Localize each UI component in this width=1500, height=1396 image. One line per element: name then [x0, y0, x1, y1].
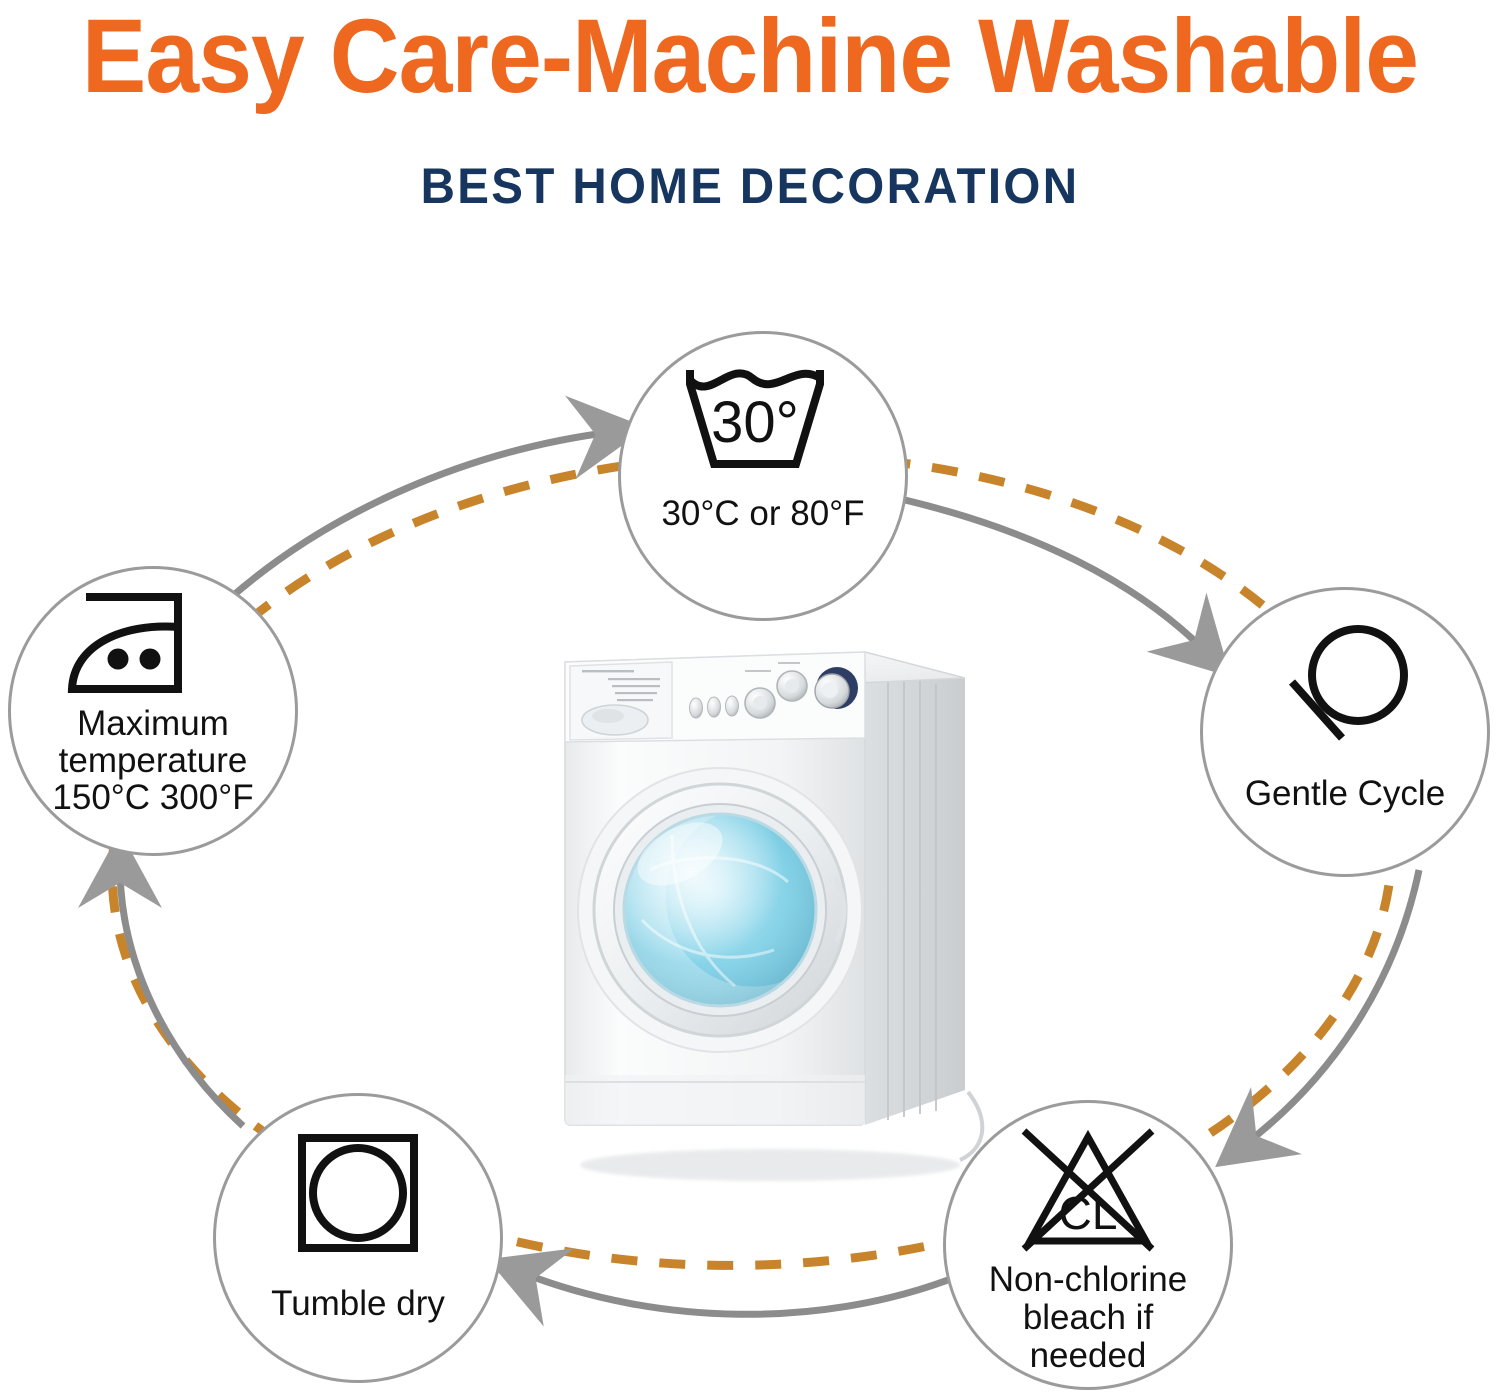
iron-caption-line-2: temperature [52, 742, 253, 779]
bleach-caption-line-3: needed [989, 1337, 1187, 1375]
iron-two-dots-icon [56, 589, 250, 699]
bleach-caption-line-1: Non-chlorine [989, 1261, 1187, 1299]
care-symbol-bleach[interactable]: CL Non-chlorine bleach if needed [943, 1100, 1233, 1390]
arrow-gentle-to-bleach [1243, 870, 1419, 1146]
iron-caption-line-3: 150°C 300°F [52, 779, 253, 816]
wash-tub-30-icon: 30° [668, 358, 858, 478]
care-symbol-gentle-cycle-caption: Gentle Cycle [1245, 774, 1445, 814]
bleach-caption-line-2: bleach if [989, 1299, 1187, 1337]
care-symbol-tumble-dry[interactable]: Tumble dry [213, 1093, 503, 1383]
iron-caption-line-1: Maximum [52, 705, 253, 742]
care-symbol-tumble-dry-caption: Tumble dry [271, 1284, 445, 1324]
washing-machine-image [520, 620, 1010, 1190]
care-symbol-wash[interactable]: 30° 30°C or 80°F [618, 331, 908, 621]
care-symbol-gentle-cycle[interactable]: Gentle Cycle [1200, 587, 1490, 877]
infographic-canvas: Easy Care-Machine Washable BEST HOME DEC… [0, 0, 1500, 1396]
wash-temp-symbol-text: 30° [711, 390, 799, 455]
arrow-bleach-to-tumble [520, 1272, 948, 1314]
care-symbol-iron-caption: Maximum temperature 150°C 300°F [52, 705, 253, 816]
tumble-dry-icon [288, 1126, 428, 1258]
non-chlorine-bleach-icon: CL [990, 1123, 1186, 1257]
gentle-cycle-icon [1270, 620, 1420, 752]
care-symbol-wash-caption: 30°C or 80°F [661, 494, 864, 534]
care-symbol-iron[interactable]: Maximum temperature 150°C 300°F [8, 566, 298, 856]
care-symbol-bleach-caption: Non-chlorine bleach if needed [989, 1261, 1187, 1375]
